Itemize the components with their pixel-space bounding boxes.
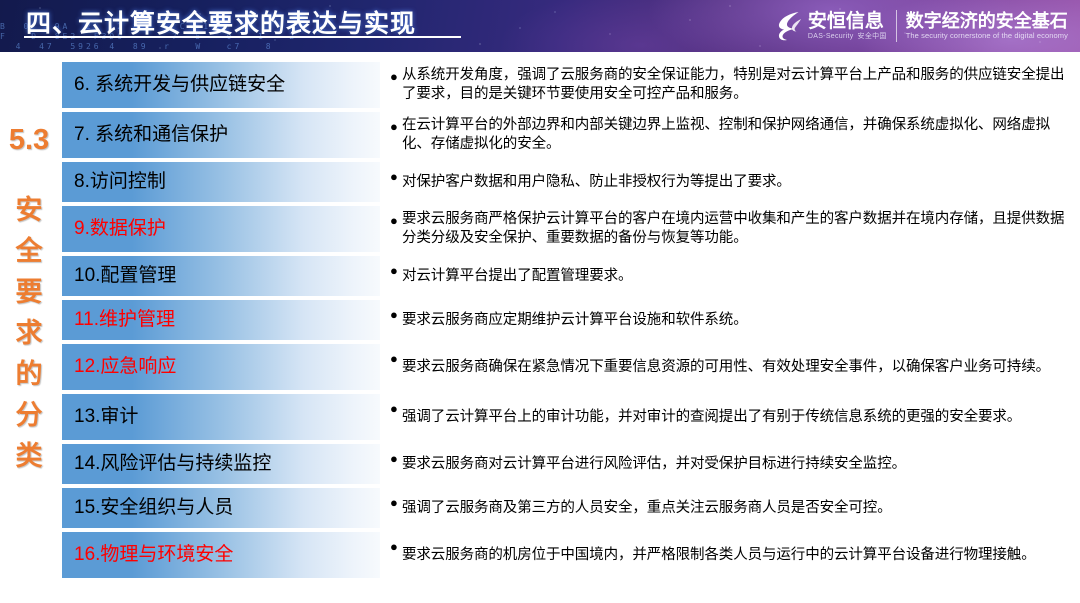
row-description: 从系统开发角度，强调了云服务商的安全保证能力，特别是对云计算平台上产品和服务的供… [402, 66, 1068, 104]
row-description: 要求云服务商严格保护云计算平台的客户在境内运营中收集和产生的客户数据并在境内存储… [402, 210, 1068, 248]
table-row: 16.物理与环境安全●要求云服务商的机房位于中国境内，并严格限制各类人员与运行中… [62, 532, 1074, 578]
row-title: 10.配置管理 [74, 265, 176, 287]
logo-tagline-cn: 数字经济的安全基石 [906, 11, 1068, 31]
row-title-cell: 15.安全组织与人员 [62, 488, 380, 528]
row-description-cell: ●强调了云计算平台上的审计功能，并对审计的查阅提出了有别于传统信息系统的更强的安… [380, 394, 1074, 440]
row-title-cell: 14.风险评估与持续监控 [62, 444, 380, 484]
row-description-cell: ●要求云服务商的机房位于中国境内，并严格限制各类人员与运行中的云计算平台设备进行… [380, 532, 1074, 578]
row-title-cell: 8.访问控制 [62, 162, 380, 202]
row-description: 要求云服务商对云计算平台进行风险评估，并对受保护目标进行持续安全监控。 [402, 455, 906, 474]
row-description-cell: ●要求云服务商对云计算平台进行风险评估，并对受保护目标进行持续安全监控。 [380, 444, 1074, 484]
logo-divider [896, 10, 897, 42]
row-title-cell: 13.审计 [62, 394, 380, 440]
title-underline [24, 36, 461, 38]
row-title: 14.风险评估与持续监控 [74, 453, 271, 475]
section-vertical-char: 全 [4, 231, 54, 272]
row-title-cell: 7. 系统和通信保护 [62, 112, 380, 158]
logo-brand-cn: 安恒信息 [808, 12, 887, 32]
bullet-icon: ● [390, 536, 402, 556]
bullet-icon: ● [390, 304, 402, 324]
table-row: 8.访问控制●对保护客户数据和用户隐私、防止非授权行为等提出了要求。 [62, 162, 1074, 202]
section-rail: 5.3 安全要求的分类 [0, 56, 58, 596]
row-description-cell: ●对保护客户数据和用户隐私、防止非授权行为等提出了要求。 [380, 162, 1074, 202]
row-title-cell: 16.物理与环境安全 [62, 532, 380, 578]
section-vertical-label: 安全要求的分类 [4, 190, 54, 477]
slide-header: B 0 9A 2 2 8 C 1 3 F D 8E2 F3D0 7 5 0 1 … [0, 0, 1080, 52]
row-title: 11.维护管理 [74, 309, 175, 331]
table-row: 7. 系统和通信保护●在云计算平台的外部边界和内部关键边界上监视、控制和保护网络… [62, 112, 1074, 158]
row-description-cell: ●对云计算平台提出了配置管理要求。 [380, 256, 1074, 296]
table-row: 14.风险评估与持续监控●要求云服务商对云计算平台进行风险评估，并对受保护目标进… [62, 444, 1074, 484]
row-title: 8.访问控制 [74, 171, 166, 193]
section-vertical-char: 安 [4, 190, 54, 231]
bullet-icon: ● [390, 348, 402, 368]
section-vertical-char: 分 [4, 395, 54, 436]
bullet-icon: ● [390, 260, 402, 280]
bullet-icon: ● [390, 166, 402, 186]
page-title: 四、云计算安全要求的表达与实现 [26, 4, 416, 40]
row-title: 15.安全组织与人员 [74, 497, 233, 519]
row-description-cell: ●要求云服务商确保在紧急情况下重要信息资源的可用性、有效处理安全事件，以确保客户… [380, 344, 1074, 390]
table-row: 9.数据保护●要求云服务商严格保护云计算平台的客户在境内运营中收集和产生的客户数… [62, 206, 1074, 252]
row-title: 9.数据保护 [74, 218, 166, 240]
logo-tagline-en: The security cornerstone of the digital … [906, 31, 1068, 41]
row-description-cell: ●从系统开发角度，强调了云服务商的安全保证能力，特别是对云计算平台上产品和服务的… [380, 62, 1074, 108]
logo-brand-en-cn: 安全中国 [858, 32, 887, 41]
row-description-cell: ●在云计算平台的外部边界和内部关键边界上监视、控制和保护网络通信，并确保系统虚拟… [380, 112, 1074, 158]
row-title-cell: 10.配置管理 [62, 256, 380, 296]
table-row: 11.维护管理●要求云服务商应定期维护云计算平台设施和软件系统。 [62, 300, 1074, 340]
row-description: 在云计算平台的外部边界和内部关键边界上监视、控制和保护网络通信，并确保系统虚拟化… [402, 116, 1068, 154]
row-description: 强调了云服务商及第三方的人员安全，重点关注云服务商人员是否安全可控。 [402, 499, 892, 518]
row-description-cell: ●要求云服务商应定期维护云计算平台设施和软件系统。 [380, 300, 1074, 340]
row-title-cell: 12.应急响应 [62, 344, 380, 390]
bullet-icon: ● [390, 492, 402, 512]
row-title: 6. 系统开发与供应链安全 [74, 74, 285, 96]
row-title-cell: 9.数据保护 [62, 206, 380, 252]
row-description: 强调了云计算平台上的审计功能，并对审计的查阅提出了有别于传统信息系统的更强的安全… [402, 408, 1021, 427]
table-row: 6. 系统开发与供应链安全●从系统开发角度，强调了云服务商的安全保证能力，特别是… [62, 62, 1074, 108]
row-description-cell: ●要求云服务商严格保护云计算平台的客户在境内运营中收集和产生的客户数据并在境内存… [380, 206, 1074, 252]
logo-brand-en: DAS-Security [808, 32, 854, 41]
logo-brand-en-row: DAS-Security 安全中国 [808, 32, 887, 41]
bullet-icon: ● [390, 116, 402, 136]
row-description: 要求云服务商的机房位于中国境内，并严格限制各类人员与运行中的云计算平台设备进行物… [402, 546, 1036, 565]
row-description: 对云计算平台提出了配置管理要求。 [402, 267, 632, 286]
row-title: 12.应急响应 [74, 356, 176, 378]
section-number: 5.3 [4, 124, 54, 157]
table-row: 13.审计●强调了云计算平台上的审计功能，并对审计的查阅提出了有别于传统信息系统… [62, 394, 1074, 440]
bullet-icon: ● [390, 398, 402, 418]
table-row: 15.安全组织与人员●强调了云服务商及第三方的人员安全，重点关注云服务商人员是否… [62, 488, 1074, 528]
swoosh-logo-icon [774, 10, 804, 42]
row-title: 16.物理与环境安全 [74, 544, 233, 566]
row-title: 7. 系统和通信保护 [74, 124, 228, 146]
row-title-cell: 11.维护管理 [62, 300, 380, 340]
bullet-icon: ● [390, 210, 402, 230]
table-row: 12.应急响应●要求云服务商确保在紧急情况下重要信息资源的可用性、有效处理安全事… [62, 344, 1074, 390]
row-description-cell: ●强调了云服务商及第三方的人员安全，重点关注云服务商人员是否安全可控。 [380, 488, 1074, 528]
row-description: 要求云服务商应定期维护云计算平台设施和软件系统。 [402, 311, 748, 330]
row-title: 13.审计 [74, 406, 138, 428]
requirements-table: 6. 系统开发与供应链安全●从系统开发角度，强调了云服务商的安全保证能力，特别是… [62, 62, 1074, 582]
section-vertical-char: 的 [4, 354, 54, 395]
logo-brand-block: 安恒信息 DAS-Security 安全中国 [808, 12, 887, 41]
company-logo: 安恒信息 DAS-Security 安全中国 数字经济的安全基石 The sec… [774, 5, 1068, 47]
row-description: 要求云服务商确保在紧急情况下重要信息资源的可用性、有效处理安全事件，以确保客户业… [402, 358, 1050, 377]
bullet-icon: ● [390, 448, 402, 468]
row-description: 对保护客户数据和用户隐私、防止非授权行为等提出了要求。 [402, 173, 791, 192]
bullet-icon: ● [390, 66, 402, 86]
logo-tagline-block: 数字经济的安全基石 The security cornerstone of th… [906, 11, 1068, 41]
section-vertical-char: 类 [4, 436, 54, 477]
row-title-cell: 6. 系统开发与供应链安全 [62, 62, 380, 108]
table-row: 10.配置管理●对云计算平台提出了配置管理要求。 [62, 256, 1074, 296]
section-vertical-char: 要 [4, 272, 54, 313]
section-vertical-char: 求 [4, 313, 54, 354]
